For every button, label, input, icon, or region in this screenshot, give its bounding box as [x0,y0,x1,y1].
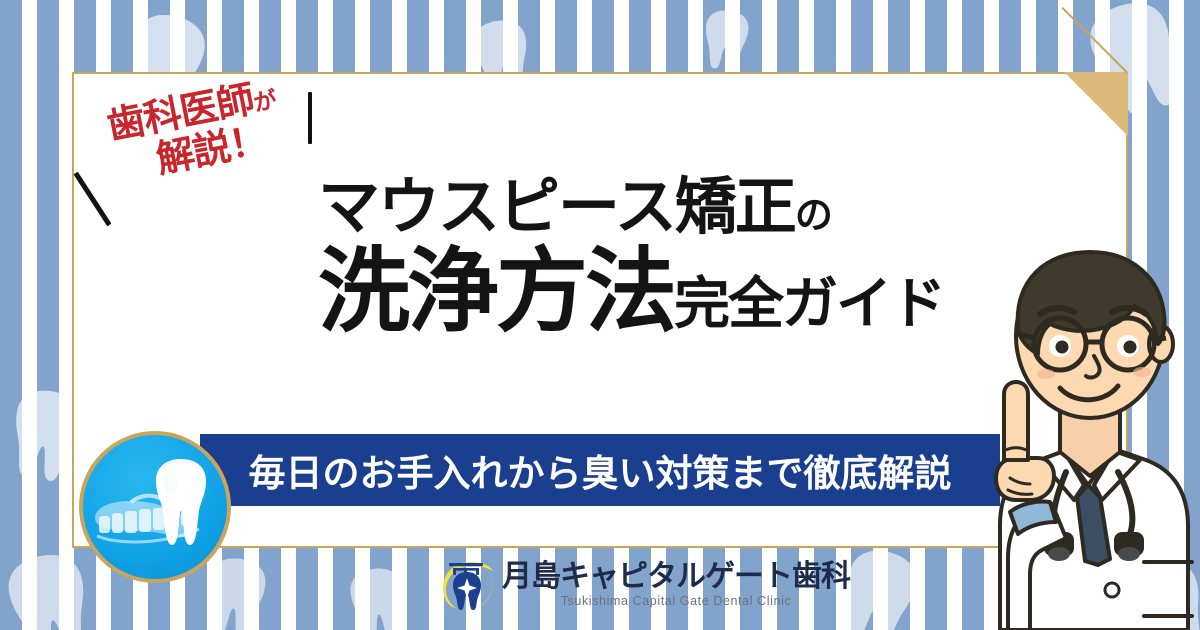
title-line-1: マウスピース矯正の [318,176,1018,238]
tooth-silhouette-icon [342,563,414,630]
clinic-name-english: Tsukishima Capital Gate Dental Clinic [502,595,850,608]
banner-root: 歯科医師が 解説！ マウスピース矯正の 洗浄方法完全ガイド 毎日のお手入れから臭… [0,0,1200,630]
aligner-photo [79,431,231,583]
badge-particle: が [252,87,280,117]
title-line-2: 洗浄方法完全ガイド [318,246,1018,338]
title-line1-main: マウスピース矯正 [318,170,795,243]
main-title: マウスピース矯正の 洗浄方法完全ガイド [318,176,1018,338]
title-line1-suffix: の [795,193,831,237]
tooth-silhouette-icon [697,5,755,74]
badge-exclaim: ！ [225,117,270,167]
title-line2-suffix: 完全ガイド [674,272,944,337]
tooth-silhouette-icon [194,552,275,630]
badge-accent-right-line [308,92,312,144]
clinic-logo-text: 月島キャピタルゲート歯科 Tsukishima Capital Gate Den… [502,562,850,608]
clinic-logo: 月島キャピタルゲート歯科 Tsukishima Capital Gate Den… [440,560,850,610]
clinic-name: 月島キャピタルゲート歯科 [502,562,850,592]
title-line2-main: 洗浄方法 [318,238,674,345]
photo-clear-aligner-icon [87,492,207,563]
dentist-illustration [948,196,1200,630]
tooth-logo-icon [440,560,494,610]
card-folded-corner [1064,72,1128,136]
subtitle-bar: 毎日のお手入れから臭い対策まで徹底解説 [200,434,1000,506]
subtitle-text: 毎日のお手入れから臭い対策まで徹底解説 [249,443,952,497]
